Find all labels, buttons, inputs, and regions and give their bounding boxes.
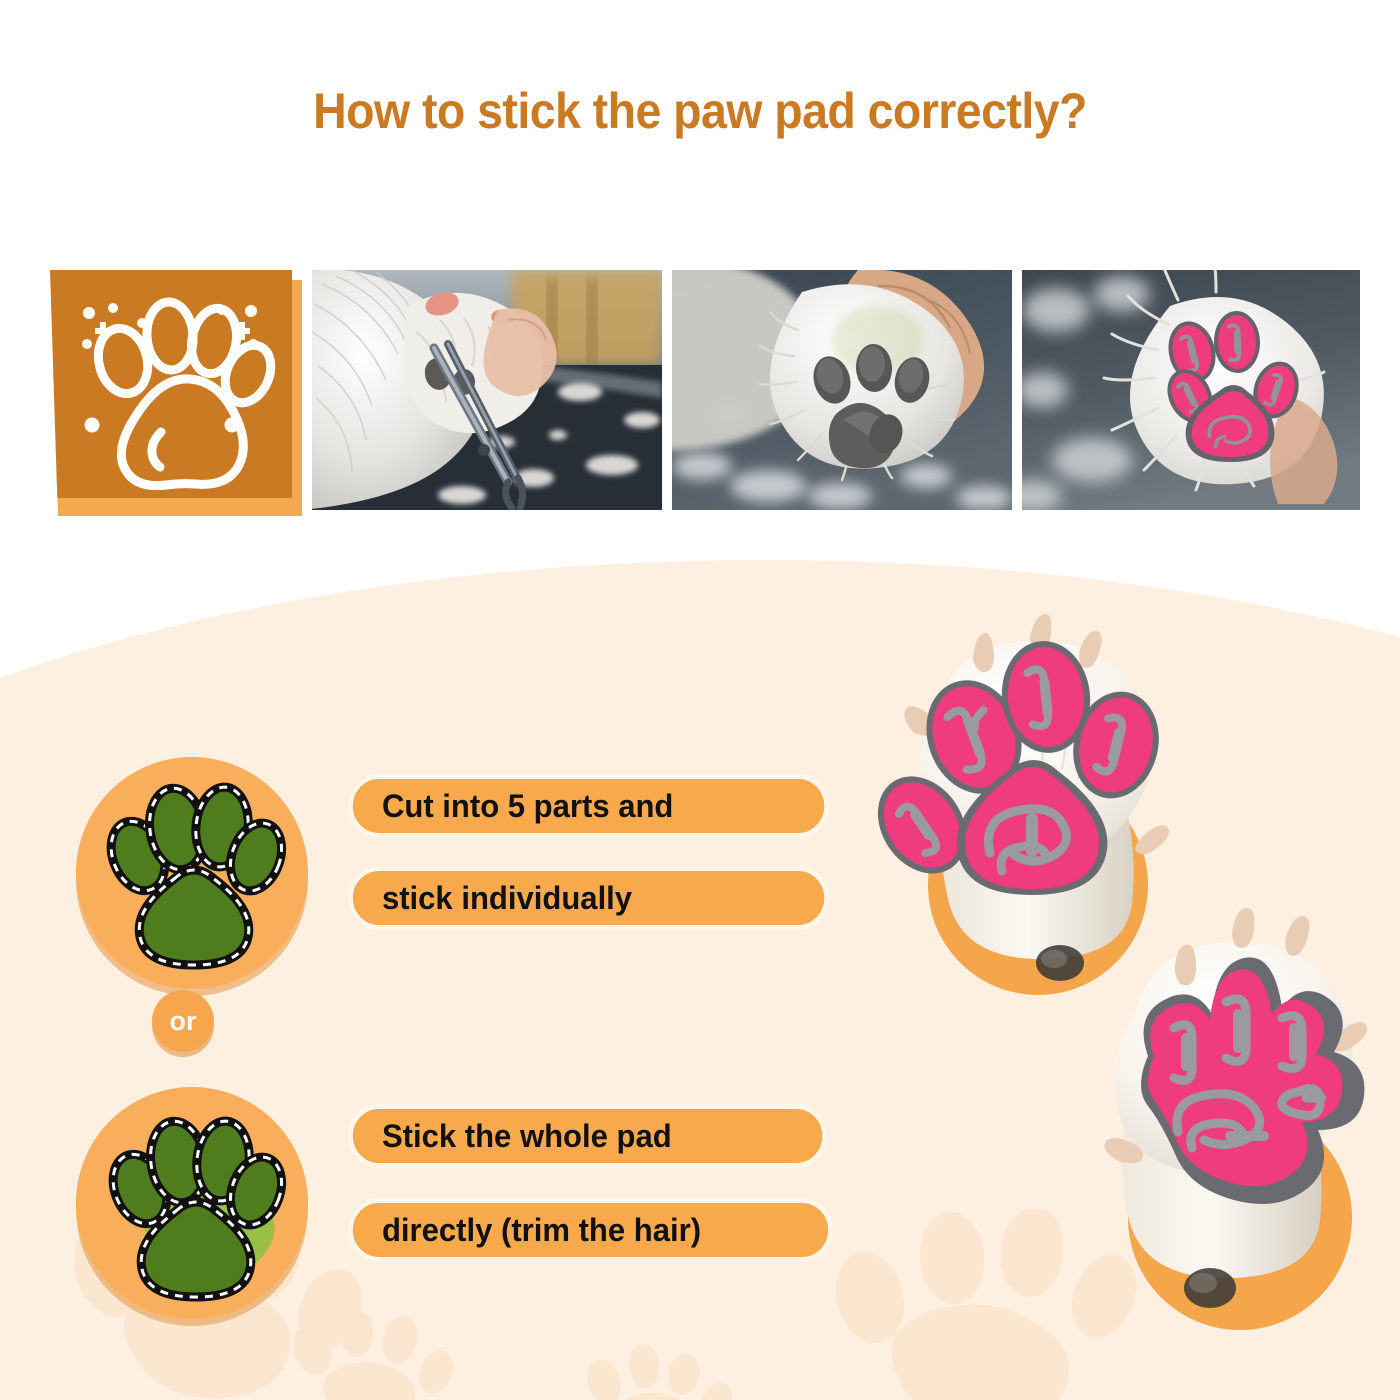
page-title: How to stick the paw pad correctly?	[49, 82, 1351, 140]
paw-icon-card	[50, 270, 302, 516]
option-a-line-1: Cut into 5 parts and	[348, 774, 829, 838]
paw-cut-into-five-parts-icon	[76, 757, 308, 989]
infographic-root: How to stick the paw pad correctly?	[0, 0, 1400, 1400]
whole-paw-pad-icon	[76, 1087, 308, 1319]
option-a-line-2: stick individually	[348, 866, 829, 930]
watermark-paw-bottom-center	[560, 1330, 820, 1400]
photo-pink-pads-applied	[1022, 270, 1360, 510]
photo-trim-paw-hair	[312, 270, 662, 510]
option-b-line-2: directly (trim the hair)	[348, 1198, 833, 1262]
paw-print-icon	[50, 270, 292, 498]
card-body	[50, 270, 292, 498]
or-separator-badge: or	[152, 990, 214, 1052]
steps-photo-strip	[50, 270, 1360, 510]
paw-with-one-whole-pink-pad	[1090, 870, 1400, 1340]
badge-cut-into-five-parts	[76, 757, 308, 989]
option-b-line-1: Stick the whole pad	[348, 1104, 827, 1168]
badge-whole-pad	[76, 1087, 308, 1319]
photo-clean-trimmed-paw	[672, 270, 1012, 510]
